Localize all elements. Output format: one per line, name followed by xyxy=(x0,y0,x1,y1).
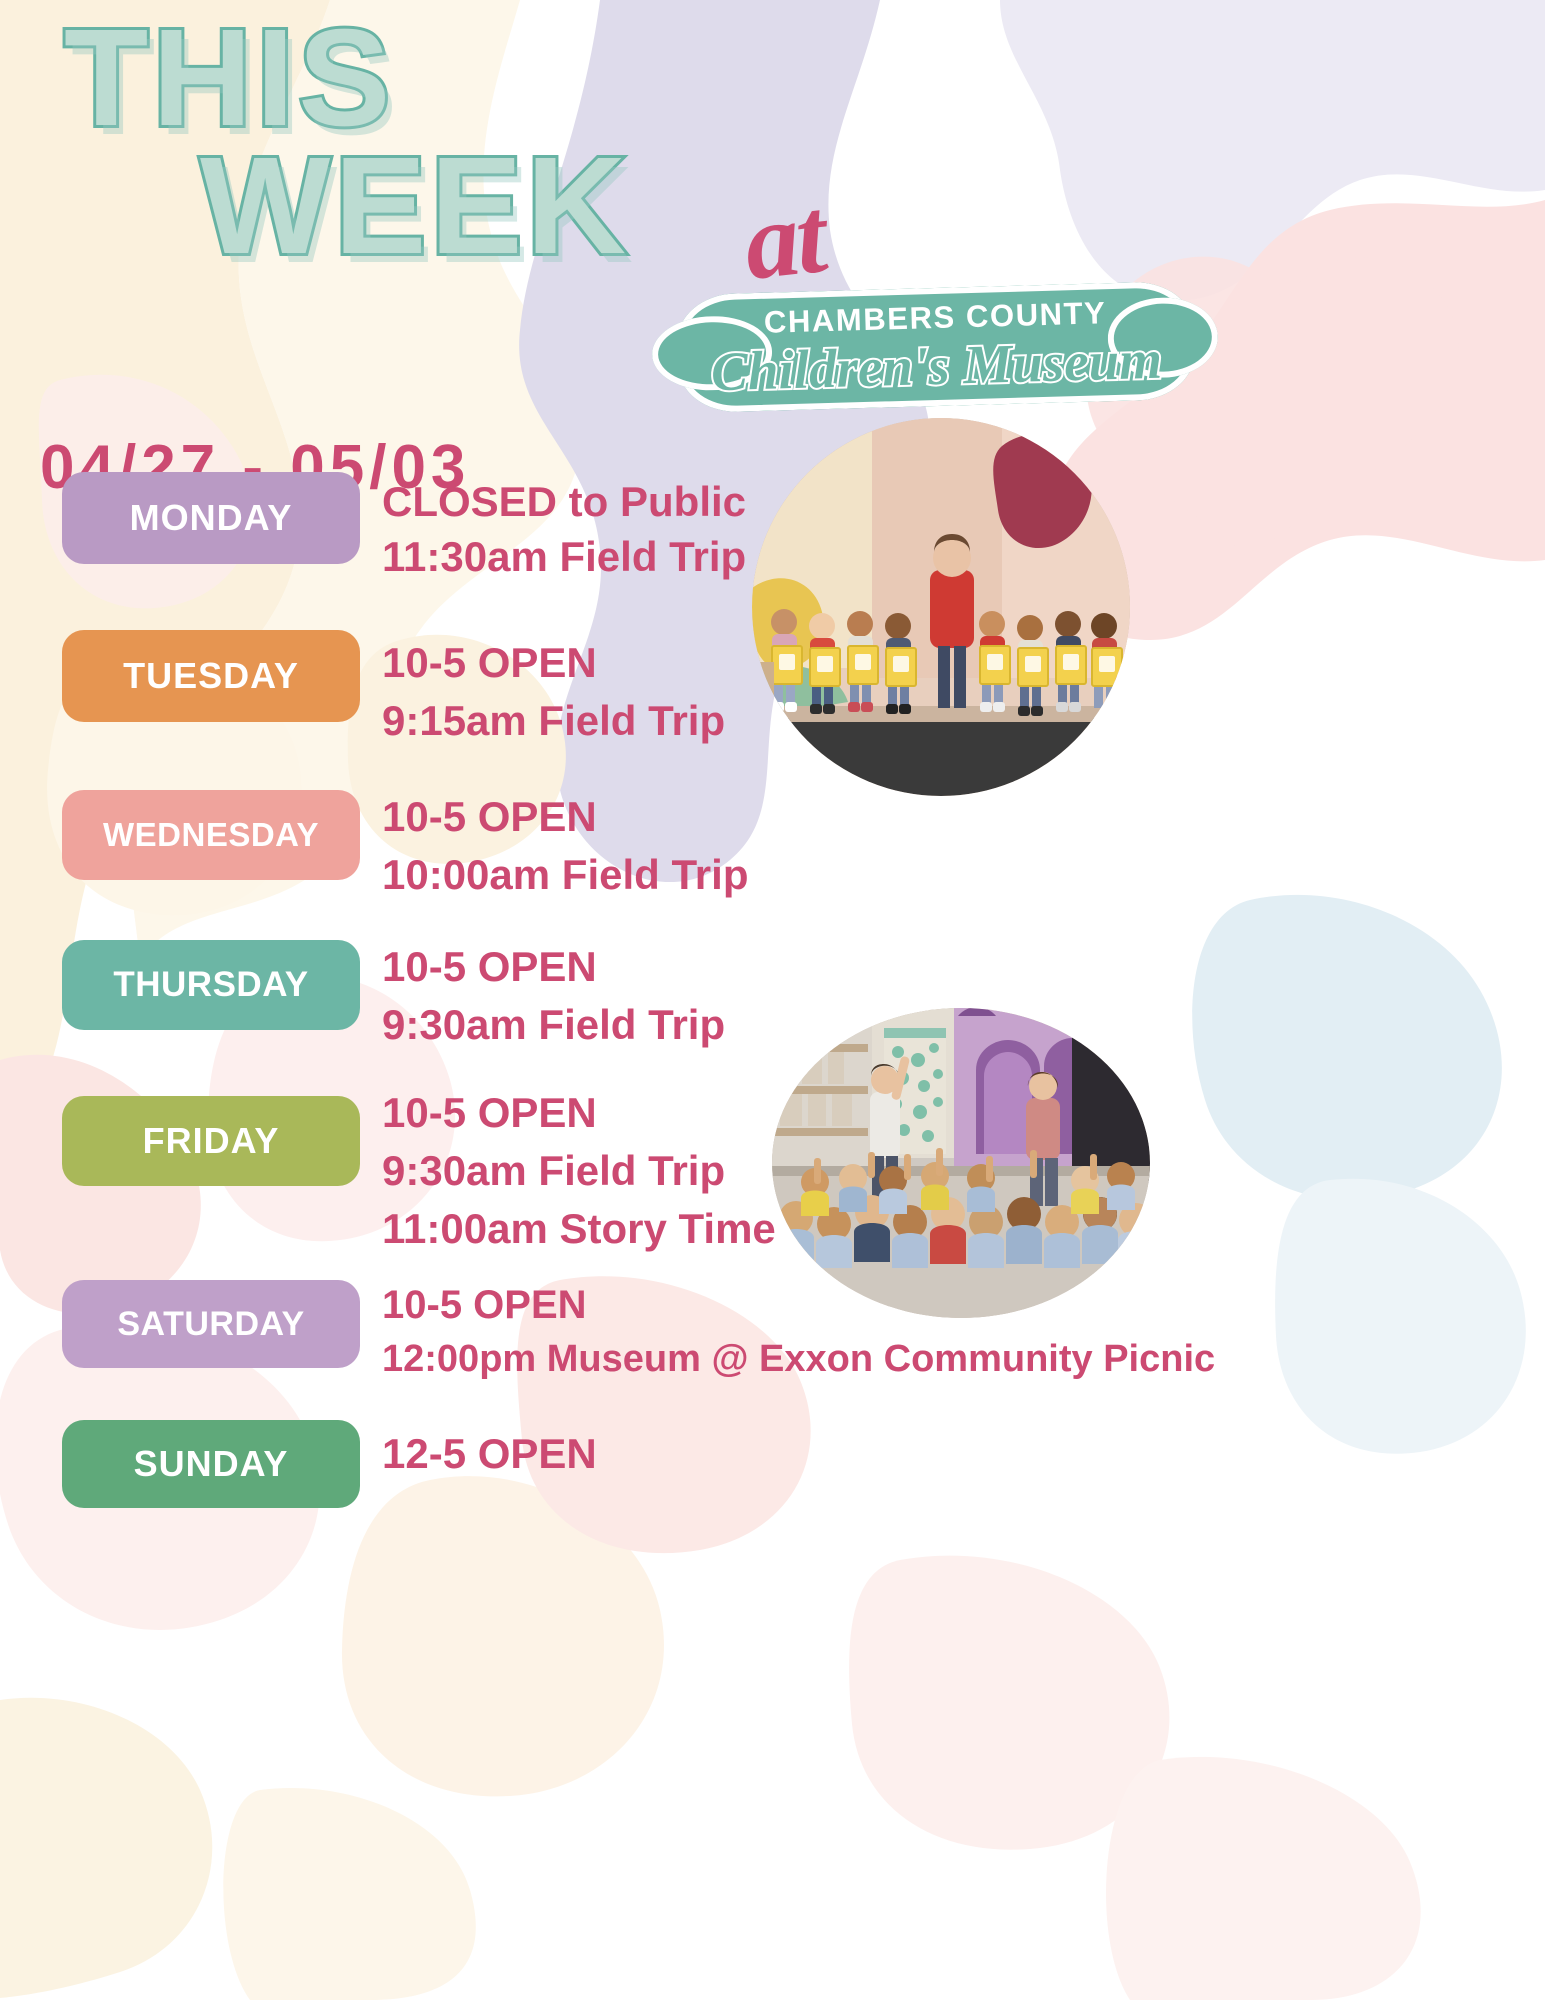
day-details-thursday: 10-5 OPEN 9:30am Field Trip xyxy=(382,924,725,1054)
day-label-saturday: SATURDAY xyxy=(117,1305,304,1344)
photo-field-trip-group-image xyxy=(752,418,1130,796)
detail-line: 10:00am Field Trip xyxy=(382,846,748,904)
day-details-tuesday: 10-5 OPEN 9:15am Field Trip xyxy=(382,618,725,750)
detail-line: CLOSED to Public xyxy=(382,474,746,529)
schedule-row-thursday: THURSDAY 10-5 OPEN 9:30am Field Trip xyxy=(0,924,1545,1074)
photo-field-trip-group xyxy=(752,418,1130,796)
day-label-monday: MONDAY xyxy=(130,497,293,539)
day-details-wednesday: 10-5 OPEN 10:00am Field Trip xyxy=(382,776,748,904)
detail-line: 11:00am Story Time xyxy=(382,1200,776,1258)
day-details-saturday: 10-5 OPEN 12:00pm Museum @ Exxon Communi… xyxy=(382,1272,1215,1386)
title-line-week: WEEK xyxy=(200,142,830,270)
day-pill-thursday: THURSDAY xyxy=(62,940,360,1030)
day-details-monday: CLOSED to Public 11:30am Field Trip xyxy=(382,470,746,585)
day-label-tuesday: TUESDAY xyxy=(123,655,299,697)
day-pill-wednesday: WEDNESDAY xyxy=(62,790,360,880)
poster-header: THIS WEEK at CHAMBERS COUNTY Children's … xyxy=(0,0,1545,470)
day-pill-tuesday: TUESDAY xyxy=(62,630,360,722)
photo-story-time-audience xyxy=(772,1008,1150,1318)
day-pill-saturday: SATURDAY xyxy=(62,1280,360,1368)
detail-line: 11:30am Field Trip xyxy=(382,529,746,584)
detail-line: 9:30am Field Trip xyxy=(382,996,725,1054)
day-details-sunday: 12-5 OPEN xyxy=(382,1412,597,1481)
poster-title: THIS WEEK xyxy=(30,14,830,271)
schedule-row-wednesday: WEDNESDAY 10-5 OPEN 10:00am Field Trip xyxy=(0,776,1545,924)
detail-line: 9:30am Field Trip xyxy=(382,1142,776,1200)
day-label-thursday: THURSDAY xyxy=(113,965,308,1005)
detail-line: 12:00pm Museum @ Exxon Community Picnic xyxy=(382,1333,1215,1385)
day-label-sunday: SUNDAY xyxy=(134,1443,289,1485)
detail-line: 12-5 OPEN xyxy=(382,1426,597,1481)
day-pill-monday: MONDAY xyxy=(62,472,360,564)
museum-logo-badge: CHAMBERS COUNTY Children's Museum xyxy=(676,281,1195,413)
title-line-this: THIS xyxy=(64,14,830,142)
detail-line: 9:15am Field Trip xyxy=(382,692,725,750)
detail-line: 10-5 OPEN xyxy=(382,788,748,846)
schedule-row-saturday: SATURDAY 10-5 OPEN 12:00pm Museum @ Exxo… xyxy=(0,1272,1545,1412)
logo-museum-text: Children's Museum xyxy=(710,327,1162,403)
detail-line: 10-5 OPEN xyxy=(382,1278,1215,1333)
day-pill-sunday: SUNDAY xyxy=(62,1420,360,1508)
detail-line: 10-5 OPEN xyxy=(382,1084,776,1142)
schedule-row-sunday: SUNDAY 12-5 OPEN xyxy=(0,1412,1545,1532)
detail-line: 10-5 OPEN xyxy=(382,634,725,692)
detail-line: 10-5 OPEN xyxy=(382,938,725,996)
day-label-friday: FRIDAY xyxy=(143,1120,280,1162)
title-at-script: at xyxy=(739,174,830,305)
day-pill-friday: FRIDAY xyxy=(62,1096,360,1186)
poster-canvas: THIS WEEK at CHAMBERS COUNTY Children's … xyxy=(0,0,1545,2000)
day-label-wednesday: WEDNESDAY xyxy=(103,816,319,854)
day-details-friday: 10-5 OPEN 9:30am Field Trip 11:00am Stor… xyxy=(382,1074,776,1258)
photo-story-time-audience-image xyxy=(772,1008,1150,1318)
